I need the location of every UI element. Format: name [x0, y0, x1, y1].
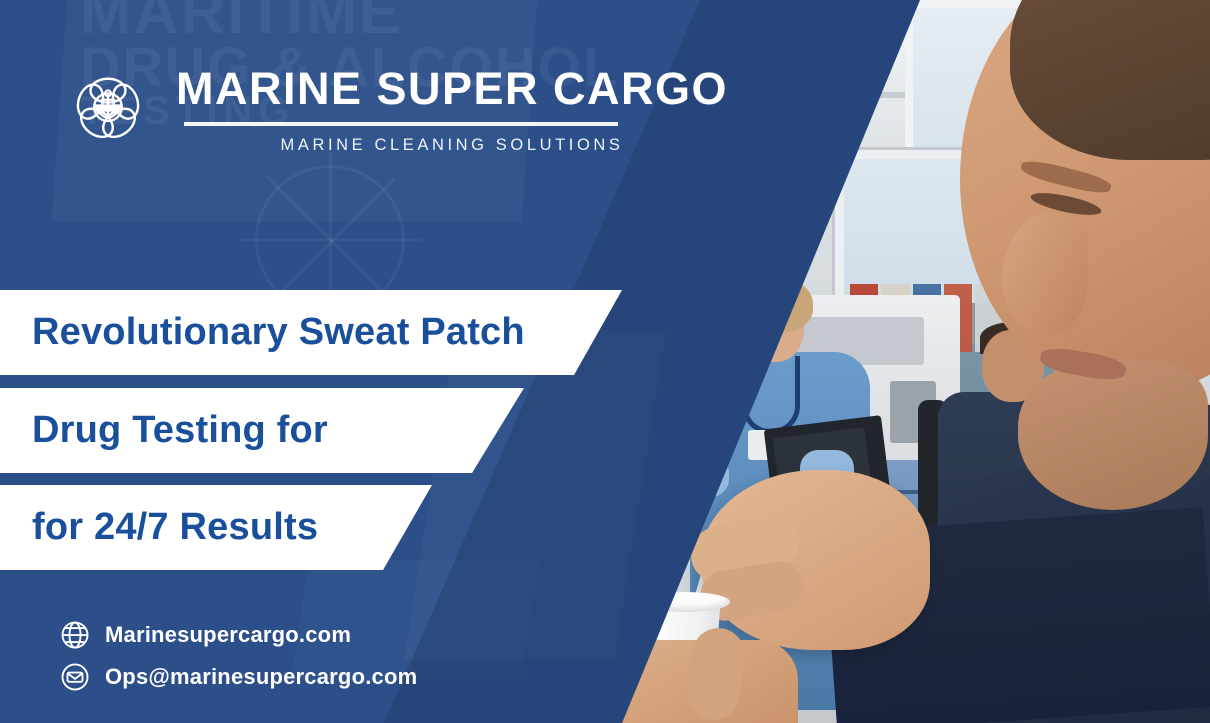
headline-ribbon-3: for 24/7 Results — [0, 485, 432, 570]
email-text[interactable]: Ops@marinesupercargo.com — [105, 664, 417, 690]
marketing-banner: MARITIME DRUG & ALCOHOL TESTING — [0, 0, 1210, 723]
foreground-man-nose — [1002, 214, 1088, 334]
headline-ribbon-1: Revolutionary Sweat Patch — [0, 290, 622, 375]
headline-line-3: for 24/7 Results — [0, 506, 318, 549]
contact-website-row[interactable]: Marinesupercargo.com — [60, 620, 417, 650]
website-text[interactable]: Marinesupercargo.com — [105, 622, 351, 648]
headline-line-1: Revolutionary Sweat Patch — [0, 311, 525, 354]
brand-name: MARINE SUPER CARGO — [176, 66, 728, 111]
contact-email-row[interactable]: Ops@marinesupercargo.com — [60, 662, 417, 692]
headline-ribbon-2: Drug Testing for — [0, 388, 524, 473]
brand-text-block: MARINE SUPER CARGO MARINE CLEANING SOLUT… — [176, 62, 728, 155]
logo-lockup: MARINE SUPER CARGO MARINE CLEANING SOLUT… — [62, 62, 728, 155]
headline-line-2: Drug Testing for — [0, 409, 328, 452]
globe-icon — [60, 620, 90, 650]
contact-block: Marinesupercargo.com Ops@marinesupercarg… — [60, 620, 417, 704]
foreground-man-chin — [1018, 360, 1208, 510]
nautical-rope-anchor-emblem-icon — [62, 63, 154, 155]
brand-tagline: MARINE CLEANING SOLUTIONS — [176, 136, 728, 155]
brand-divider — [184, 122, 618, 126]
envelope-icon — [60, 662, 90, 692]
